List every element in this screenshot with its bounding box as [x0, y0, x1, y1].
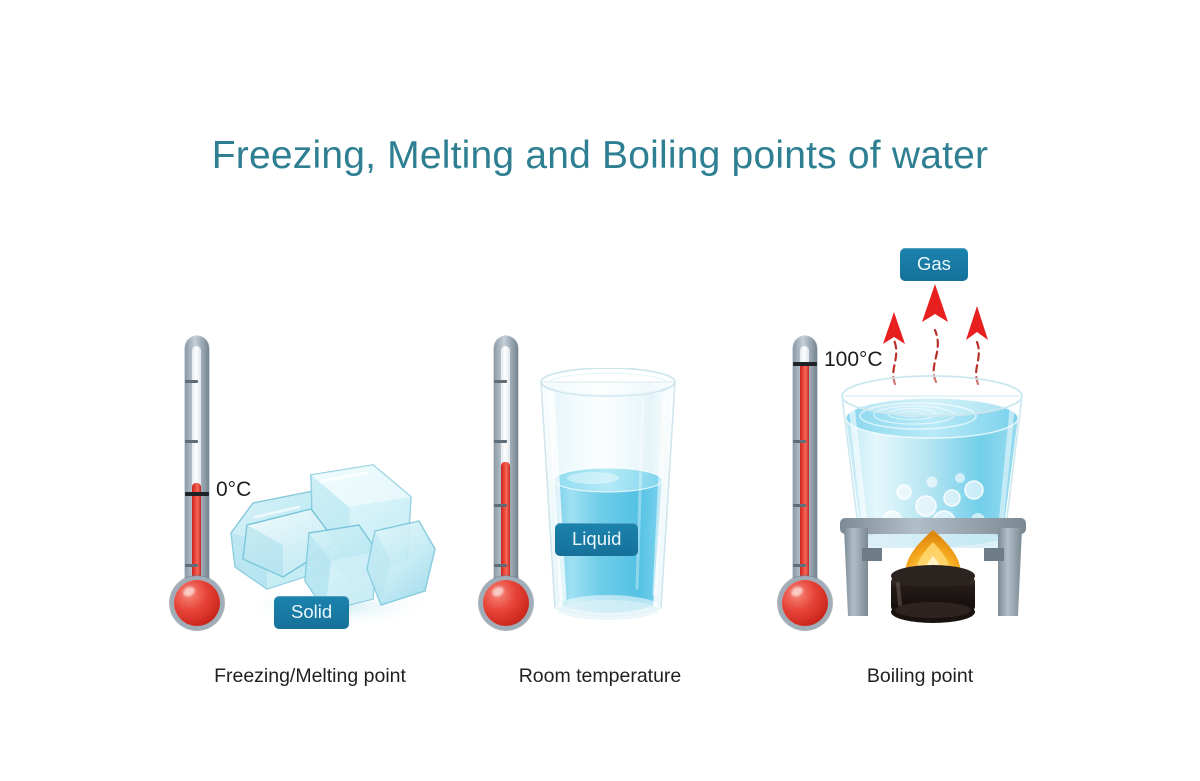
diagram-canvas: Freezing, Melting and Boiling points of …: [0, 0, 1200, 781]
panel-boiling-point: 100°C Gas: [760, 0, 1080, 781]
caption-freezing: Freezing/Melting point: [150, 665, 470, 688]
thermometer-tick-zero: [185, 492, 209, 496]
thermometer-tick: [494, 380, 507, 383]
thermometer-mercury-column: [800, 362, 809, 580]
thermometer-tick: [494, 504, 507, 507]
panel-room-temperature: Liquid Room temperature: [455, 0, 745, 781]
state-badge-liquid: Liquid: [555, 523, 638, 556]
thermometer-tick: [494, 564, 507, 567]
thermometer-tick-hundred: [793, 362, 817, 366]
thermometer-tick: [494, 440, 507, 443]
thermometer-tick: [185, 440, 198, 443]
thermometer-mercury-column: [501, 462, 510, 580]
thermometer-tick: [793, 504, 806, 507]
caption-boiling: Boiling point: [760, 665, 1080, 688]
glass-of-water-illustration: [523, 368, 693, 630]
thermometer-boiling: [782, 336, 828, 626]
thermometer-tick: [185, 380, 198, 383]
thermometer-tick: [793, 564, 806, 567]
panel-freezing-melting: 0°C: [150, 0, 470, 781]
thermometer-bulb: [174, 580, 220, 626]
thermometer-tick: [793, 440, 806, 443]
thermometer-tick: [185, 564, 198, 567]
state-badge-solid: Solid: [274, 596, 349, 629]
thermometer-freezing: [174, 336, 220, 626]
burner-stand-illustration: [838, 512, 1028, 632]
thermometer-bulb: [782, 580, 828, 626]
caption-room: Room temperature: [455, 665, 745, 688]
